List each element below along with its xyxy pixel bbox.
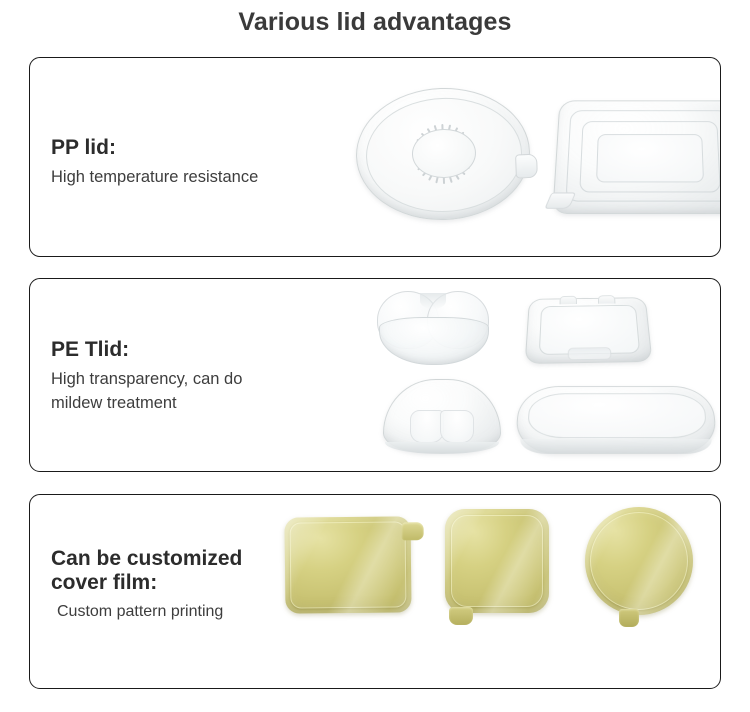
rectangular-pp-lid-image xyxy=(552,100,721,214)
card-cover-film-text: Can be customized cover film: Custom pat… xyxy=(51,547,242,624)
square-pet-lid-image xyxy=(525,297,653,364)
card-pp-lid-subtext: High temperature resistance xyxy=(51,166,258,190)
card-cover-film: Can be customized cover film: Custom pat… xyxy=(29,494,721,689)
dome-pet-lid-image xyxy=(383,379,501,453)
oval-pet-lid-image xyxy=(514,386,718,454)
foil-pull-tab xyxy=(402,522,424,540)
heart-lid-base xyxy=(379,317,489,365)
heart-notch xyxy=(420,293,446,309)
card-pe-lid-subtext: High transparency, can do mildew treatme… xyxy=(51,368,242,416)
lid-bump-left xyxy=(560,296,577,305)
card-pp-lid-heading: PP lid: xyxy=(51,136,258,160)
square-gold-foil-image xyxy=(445,509,549,613)
lid-side-tab xyxy=(515,153,538,178)
foil-sheen xyxy=(285,516,412,613)
card-pe-lid-product-images xyxy=(365,279,721,471)
card-cover-film-heading: Can be customized cover film: xyxy=(51,547,242,594)
oval-inner-panel xyxy=(526,393,708,438)
lid-bump-right xyxy=(598,295,616,303)
card-cover-film-product-images xyxy=(285,495,721,688)
foil-sheen xyxy=(445,509,549,613)
card-pe-lid-heading: PE Tlid: xyxy=(51,338,242,362)
round-gold-foil-image xyxy=(585,507,693,615)
card-pp-lid: PP lid: High temperature resistance xyxy=(29,57,721,257)
dome-facet-left xyxy=(410,410,444,444)
round-pp-lid-image xyxy=(354,85,533,223)
dome-lip xyxy=(385,442,499,454)
oval-lip xyxy=(519,439,713,454)
lid-front-dimple xyxy=(567,347,612,360)
lid-ridge-inner xyxy=(597,134,704,182)
lid-corner-tab xyxy=(544,192,576,208)
dome-facet-right xyxy=(440,410,474,444)
card-cover-film-subtext: Custom pattern printing xyxy=(51,600,242,623)
foil-sheen xyxy=(585,507,693,615)
card-pe-lid-text: PE Tlid: High transparency, can do milde… xyxy=(51,338,242,416)
card-pe-lid: PE Tlid: High transparency, can do milde… xyxy=(29,278,721,472)
foil-pull-tab xyxy=(449,607,473,625)
heart-shaped-pet-lid-image xyxy=(377,291,489,365)
foil-pull-tab xyxy=(619,609,639,627)
rectangular-gold-foil-image xyxy=(285,516,412,613)
page-title: Various lid advantages xyxy=(0,8,750,37)
card-pp-lid-product-images xyxy=(340,58,721,256)
card-pp-lid-text: PP lid: High temperature resistance xyxy=(51,136,258,190)
